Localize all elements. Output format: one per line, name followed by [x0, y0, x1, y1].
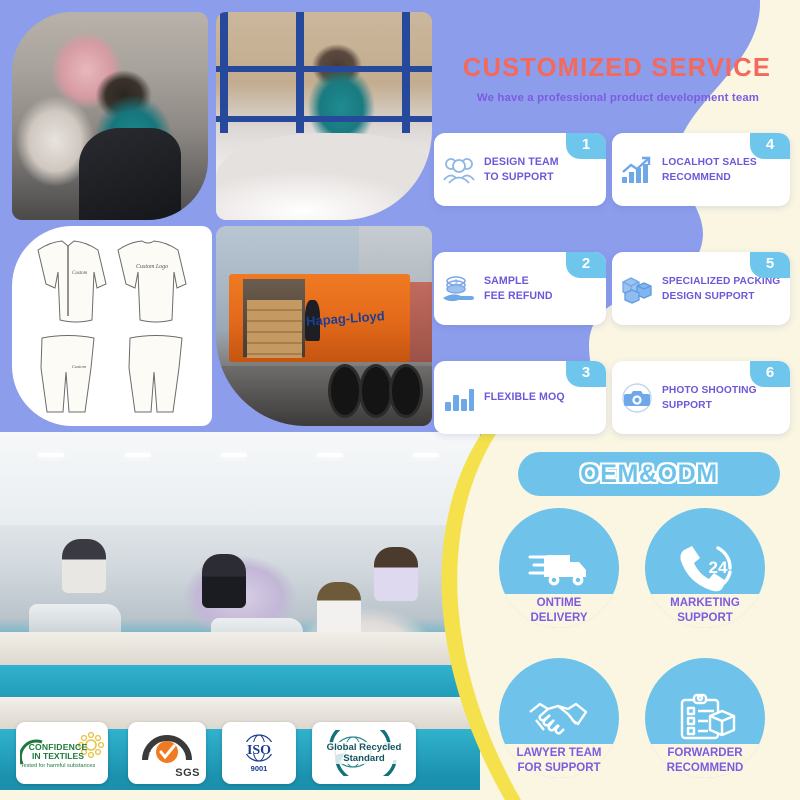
garment-sketch-panel: Custom Custom Logo Custom: [12, 226, 212, 426]
oem-label-line1: MARKETING: [638, 596, 772, 611]
photo-detail: [38, 453, 64, 457]
oem-label-line1: ONTIME: [492, 596, 626, 611]
photo-detail: [402, 12, 410, 133]
card-label: SPECIALIZED PACKING DESIGN SUPPORT: [662, 274, 784, 304]
certification-badge-oeko-tex: CONFIDENCE IN TEXTILES Tested for harmfu…: [16, 722, 108, 784]
clipboard-package-icon: [674, 692, 736, 744]
card-number-badge: 2: [566, 252, 606, 278]
warehouse-packing-photo: [216, 12, 432, 220]
delivery-truck-icon: [528, 545, 590, 591]
card-label: LOCALHOT SALES RECOMMEND: [662, 155, 761, 185]
photo-detail: [216, 116, 432, 122]
iso-globe-icon: ISO: [236, 733, 282, 763]
camera-icon: [612, 382, 662, 414]
bar-chart-icon: [434, 384, 484, 412]
card-label-line2: SUPPORT: [662, 398, 757, 413]
cert-sub: ISO 9001: [144, 742, 154, 760]
card-label: PHOTO SHOOTING SUPPORT: [662, 383, 761, 413]
card-number-badge: 1: [566, 133, 606, 159]
cert-line2: Standard: [327, 753, 402, 764]
card-number-badge: 4: [750, 133, 790, 159]
card-label-line2: RECOMMEND: [662, 170, 757, 185]
sewing-worker-photo: [12, 12, 208, 220]
cert-label: SGS: [175, 767, 200, 779]
card-label-line1: DESIGN TEAM: [484, 155, 559, 170]
photo-detail: [317, 453, 343, 457]
card-number-badge: 6: [750, 361, 790, 387]
card-label: SAMPLE FEE REFUND: [484, 274, 557, 304]
phone-24h-icon: 24: [674, 542, 736, 594]
card-label-line1: FLEXIBLE MOQ: [484, 390, 565, 405]
card-label-line1: LOCALHOT SALES: [662, 155, 757, 170]
oem-label-line1: LAWYER TEAM: [492, 746, 626, 761]
page-subtitle: We have a professional product developme…: [448, 92, 788, 104]
service-card-photo-shooting[interactable]: 6 PHOTO SHOOTING SUPPORT: [612, 361, 790, 434]
container-loading-photo: Hapag-Lloyd: [216, 226, 432, 426]
photo-detail: [389, 364, 423, 418]
badge-24: 24: [709, 558, 728, 577]
oem-item-label: MARKETING SUPPORT: [638, 596, 772, 625]
page-title: CUSTOMIZED SERVICE: [452, 54, 782, 83]
oem-item-marketing-support[interactable]: 24 MARKETING SUPPORT: [638, 508, 772, 642]
svg-text:Custom: Custom: [72, 271, 88, 276]
growth-chart-arrow-icon: [612, 155, 662, 185]
photo-detail: [220, 12, 228, 133]
card-label-line2: TO SUPPORT: [484, 170, 559, 185]
oem-services-grid: ONTIME DELIVERY 24 MARKETING SUPPORT: [492, 508, 792, 792]
shipping-container: Hapag-Lloyd: [229, 274, 410, 362]
oem-item-label: FORWARDER RECOMMEND: [638, 746, 772, 775]
certification-badge-iso-9001: ISO 9001: [222, 722, 296, 784]
card-label-line1: PHOTO SHOOTING: [662, 383, 757, 398]
card-label: FLEXIBLE MOQ: [484, 390, 569, 405]
service-cards-grid: 1 DESIGN TEAM TO SUPPORT 4: [434, 133, 790, 443]
certification-badge-grs: Global Recycled Standard: [312, 722, 416, 784]
photo-detail: [125, 453, 151, 457]
oem-item-label: ONTIME DELIVERY: [492, 596, 626, 625]
oem-item-label: LAWYER TEAM FOR SUPPORT: [492, 746, 626, 775]
photo-detail: [216, 66, 432, 72]
oem-label-line1: FORWARDER: [638, 746, 772, 761]
oem-item-forwarder-recommend[interactable]: FORWARDER RECOMMEND: [638, 658, 772, 792]
card-label-line1: SAMPLE: [484, 274, 553, 289]
garment-technical-drawings: Custom Custom Logo Custom: [12, 226, 212, 426]
card-number-badge: 3: [566, 361, 606, 387]
oem-label-line2: FOR SUPPORT: [492, 761, 626, 776]
oem-label-line2: RECOMMEND: [638, 761, 772, 776]
photo-detail: [317, 582, 361, 636]
cert-line1: Global Recycled: [327, 742, 402, 753]
service-card-design-team[interactable]: 1 DESIGN TEAM TO SUPPORT: [434, 133, 606, 206]
photo-detail: [247, 300, 301, 358]
photo-detail: [79, 128, 181, 220]
photo-detail: [296, 12, 304, 133]
certification-badges: CONFIDENCE IN TEXTILES Tested for harmfu…: [16, 722, 426, 788]
boxes-icon: [612, 274, 662, 304]
oem-item-lawyer-team[interactable]: LAWYER TEAM FOR SUPPORT: [492, 658, 626, 792]
service-card-specialized-packing[interactable]: 5 SPECIALIZED PACKING DESIGN SUPPORT: [612, 252, 790, 325]
card-label: DESIGN TEAM TO SUPPORT: [484, 155, 563, 185]
svg-text:ISO: ISO: [247, 743, 271, 758]
cert-line2: IN TEXTILES: [32, 752, 84, 761]
handshake-icon: [526, 694, 592, 742]
oem-label-line2: SUPPORT: [638, 611, 772, 626]
oem-item-ontime-delivery[interactable]: ONTIME DELIVERY: [492, 508, 626, 642]
photo-detail: [202, 554, 246, 608]
certification-badge-sgs: ISO 9001 SGS: [128, 722, 206, 784]
photo-detail: [359, 364, 393, 418]
photo-detail: [62, 539, 106, 593]
svg-text:Custom: Custom: [72, 364, 87, 369]
card-number-badge: 5: [750, 252, 790, 278]
users-group-icon: [434, 155, 484, 185]
service-card-localhot-sales[interactable]: 4 LOCALHOT SALES RECOMMEND: [612, 133, 790, 206]
photo-detail: [221, 453, 247, 457]
poster-canvas: Custom Custom Logo Custom Hapag-Lloyd: [0, 0, 800, 800]
service-card-flexible-moq[interactable]: 3 FLEXIBLE MOQ: [434, 361, 606, 434]
photo-detail: [216, 133, 432, 220]
oem-odm-label: OEM&ODM: [580, 460, 718, 489]
svg-text:Custom Logo: Custom Logo: [136, 264, 168, 270]
coins-hand-icon: $: [434, 274, 484, 304]
card-label-line2: FEE REFUND: [484, 289, 553, 304]
oem-label-line2: DELIVERY: [492, 611, 626, 626]
cert-line1: CONFIDENCE: [29, 743, 88, 752]
sgs-checkmark-icon: ISO 9001: [141, 730, 193, 770]
cert-line3: Tested for harmful substances: [21, 764, 96, 770]
card-label-line2: DESIGN SUPPORT: [662, 289, 780, 304]
oem-odm-banner: OEM&ODM: [518, 452, 780, 496]
service-card-sample-fee-refund[interactable]: 2 $ SAMPLE FEE REFUND: [434, 252, 606, 325]
cert-sub: 9001: [251, 764, 268, 773]
